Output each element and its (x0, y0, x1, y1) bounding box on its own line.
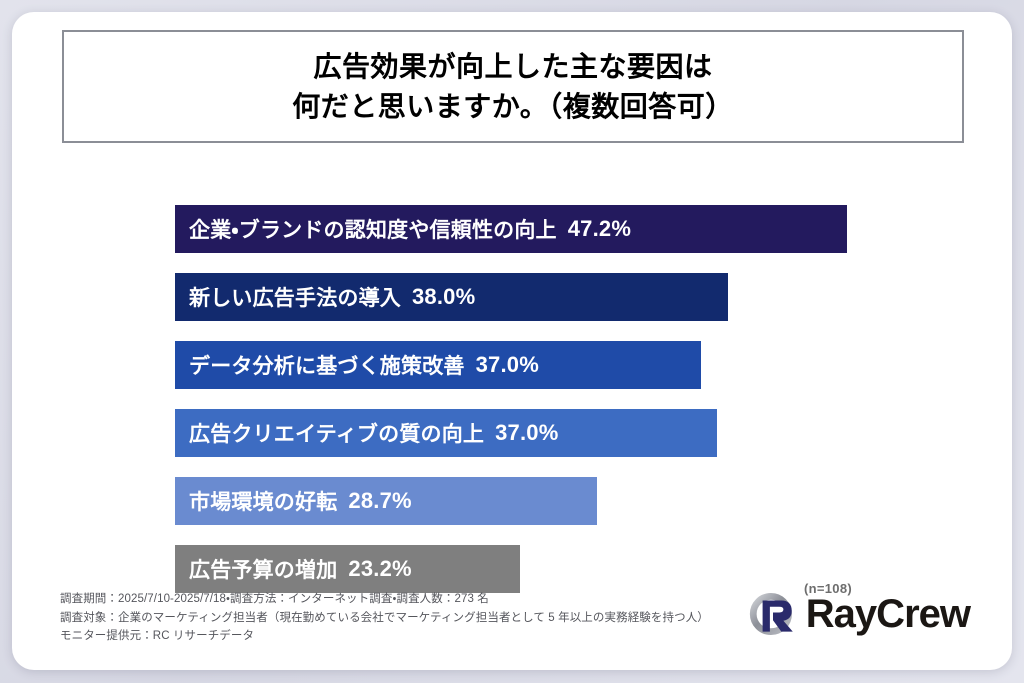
bar-2[interactable]: 新しい広告手法の導入 38.0% (175, 273, 728, 321)
footer: 調査期間：2025/7/10-2025/7/18・調査方法：インターネット調査・… (12, 582, 1012, 670)
bar-row: データ分析に基づく施策改善 37.0% (175, 341, 701, 389)
bar-2-value: 38.0% (412, 284, 475, 310)
bar-row: 新しい広告手法の導入 38.0% (175, 273, 728, 321)
slide-page: 広告効果が向上した主な要因は 何だと思いますか。（複数回答可） 企業・ブランドの… (0, 0, 1024, 683)
bar-4[interactable]: 広告クリエイティブの質の向上 37.0% (175, 409, 717, 457)
raycrew-logo-text: RayCrew (806, 594, 970, 634)
footnotes: 調査期間：2025/7/10-2025/7/18・調査方法：インターネット調査・… (60, 590, 710, 646)
footnote-monitor-source: モニター提供元：RC リサーチデータ (60, 627, 710, 646)
bar-3-value: 37.0% (476, 352, 539, 378)
footnote-survey-target: 調査対象：企業のマーケティング担当者（現在勤めている会社でマーケティング担当者と… (60, 609, 710, 628)
bar-6-value: 23.2% (348, 556, 411, 582)
bar-row: 広告クリエイティブの質の向上 37.0% (175, 409, 717, 457)
bar-5-value: 28.7% (348, 488, 411, 514)
title-line-1: 広告効果が向上した主な要因は (313, 47, 712, 87)
bar-chart: 企業・ブランドの認知度や信頼性の向上 47.2% 新しい広告手法の導入 38.0… (12, 193, 1012, 583)
bar-5[interactable]: 市場環境の好転 28.7% (175, 477, 597, 525)
bar-6-label: 広告予算の増加 (189, 554, 337, 584)
bar-4-label: 広告クリエイティブの質の向上 (189, 418, 484, 448)
bar-row: 企業・ブランドの認知度や信頼性の向上 47.2% (175, 205, 847, 253)
bar-1-label: 企業・ブランドの認知度や信頼性の向上 (189, 214, 557, 244)
slide-card: 広告効果が向上した主な要因は 何だと思いますか。（複数回答可） 企業・ブランドの… (12, 12, 1012, 670)
bar-3-label: データ分析に基づく施策改善 (189, 350, 465, 380)
bar-4-value: 37.0% (495, 420, 558, 446)
bar-2-label: 新しい広告手法の導入 (189, 282, 401, 312)
bar-1[interactable]: 企業・ブランドの認知度や信頼性の向上 47.2% (175, 205, 847, 253)
bar-3[interactable]: データ分析に基づく施策改善 37.0% (175, 341, 701, 389)
bar-5-label: 市場環境の好転 (189, 486, 337, 516)
title-line-2: 何だと思いますか。（複数回答可） (292, 87, 733, 127)
title-box: 広告効果が向上した主な要因は 何だと思いますか。（複数回答可） (62, 30, 964, 143)
bar-1-value: 47.2% (568, 216, 631, 242)
raycrew-logo-mark-icon (747, 588, 799, 640)
raycrew-logo: RayCrew (747, 588, 970, 640)
footnote-survey-period: 調査期間：2025/7/10-2025/7/18・調査方法：インターネット調査・… (60, 590, 710, 609)
bar-row: 市場環境の好転 28.7% (175, 477, 597, 525)
